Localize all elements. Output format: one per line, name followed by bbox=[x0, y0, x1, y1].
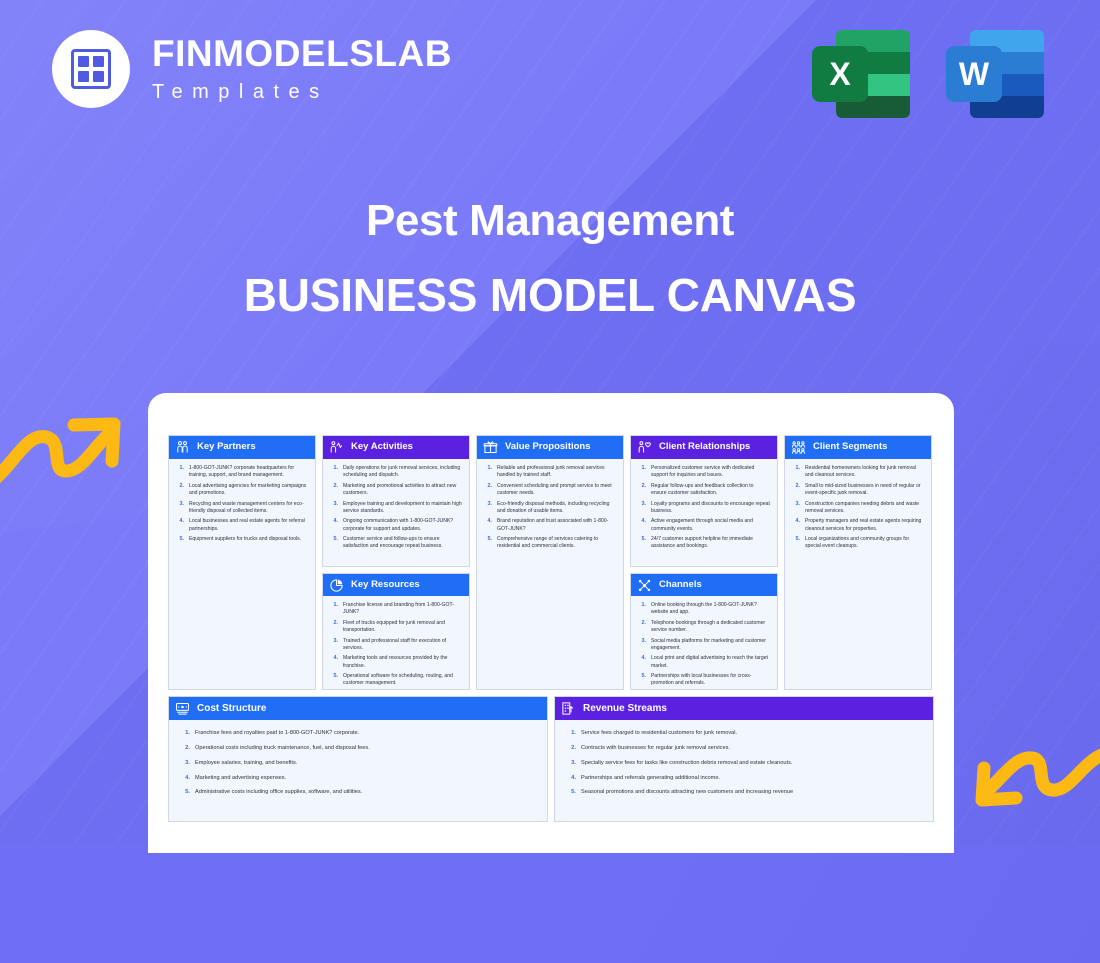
list-item: 3.Construction companies needing debris … bbox=[791, 501, 924, 516]
list-item: 3.Eco-friendly disposal methods, includi… bbox=[483, 501, 616, 516]
list-item: 1.Residential homeowners looking for jun… bbox=[791, 465, 924, 480]
panel-title: Cost Structure bbox=[197, 703, 266, 714]
excel-letter: X bbox=[812, 46, 868, 102]
brand-tagline: Templates bbox=[152, 81, 452, 104]
canvas-bottom-row: Cost Structure 1.Franchise fees and roya… bbox=[168, 696, 934, 822]
list-item: 4.Marketing tools and resources provided… bbox=[329, 655, 462, 670]
word-letter: W bbox=[946, 46, 1002, 102]
gift-icon bbox=[483, 440, 498, 455]
list-item: 4.Brand reputation and trust associated … bbox=[483, 518, 616, 533]
list-item: 5.Local organizations and community grou… bbox=[791, 536, 924, 551]
list-item: 1.Online booking through the 1-800-GOT-J… bbox=[637, 602, 770, 617]
pie-chart-icon bbox=[329, 578, 344, 593]
list-item: 1.Daily operations for junk removal serv… bbox=[329, 465, 462, 480]
list-item: 5.Operational software for scheduling, r… bbox=[329, 673, 462, 688]
list-item: 4.Property managers and real estate agen… bbox=[791, 518, 924, 533]
list-item: 3.Employee salaries, training, and benef… bbox=[179, 759, 537, 768]
panel-client-relationships[interactable]: Client Relationships 1.Personalized cust… bbox=[630, 435, 778, 567]
building-arrow-icon bbox=[561, 701, 576, 716]
list-item: 2.Fleet of trucks equipped for junk remo… bbox=[329, 620, 462, 635]
panel-key-partners[interactable]: Key Partners 1.1-800-GOT-JUNK? corporate… bbox=[168, 435, 316, 690]
list-item: 1.Service fees charged to residential cu… bbox=[565, 729, 923, 738]
word-file-icon: W bbox=[946, 28, 1044, 120]
list-item: 2.Operational costs including truck main… bbox=[179, 744, 537, 753]
list-item: 5.24/7 customer support helpline for imm… bbox=[637, 536, 770, 551]
key-partners-list: 1.1-800-GOT-JUNK? corporate headquarters… bbox=[169, 459, 315, 552]
list-item: 2.Convenient scheduling and prompt servi… bbox=[483, 483, 616, 498]
person-activity-icon bbox=[329, 440, 344, 455]
list-item: 3.Recycling and waste management centers… bbox=[175, 501, 308, 516]
list-item: 4.Marketing and advertising expenses. bbox=[179, 774, 537, 783]
list-item: 5.Partnerships with local businesses for… bbox=[637, 673, 770, 688]
list-item: 2.Local advertising agencies for marketi… bbox=[175, 483, 308, 498]
format-badges: X W bbox=[812, 28, 1044, 120]
list-item: 1.Franchise fees and royalties paid to 1… bbox=[179, 729, 537, 738]
squiggly-arrow-down-left-icon bbox=[966, 740, 1100, 835]
list-item: 1.Reliable and professional junk removal… bbox=[483, 465, 616, 480]
panel-title: Client Segments bbox=[813, 442, 887, 453]
panel-client-segments[interactable]: Client Segments 1.Residential homeowners… bbox=[784, 435, 932, 690]
panel-value-propositions[interactable]: Value Propositions 1.Reliable and profes… bbox=[476, 435, 624, 690]
list-item: 4.Ongoing communication with 1-800-GOT-J… bbox=[329, 518, 462, 533]
panel-channels[interactable]: Channels 1.Online booking through the 1-… bbox=[630, 573, 778, 690]
cost-structure-list: 1.Franchise fees and royalties paid to 1… bbox=[169, 720, 547, 809]
list-item: 4.Partnerships and referrals generating … bbox=[565, 774, 923, 783]
list-item: 3.Specialty service fees for tasks like … bbox=[565, 759, 923, 768]
list-item: 1.Personalized customer service with ded… bbox=[637, 465, 770, 480]
title-line-1: Pest Management bbox=[0, 196, 1100, 246]
panel-key-resources[interactable]: Key Resources 1.Franchise license and br… bbox=[322, 573, 470, 690]
person-heart-icon bbox=[637, 440, 652, 455]
channels-list: 1.Online booking through the 1-800-GOT-J… bbox=[631, 596, 777, 696]
value-propositions-list: 1.Reliable and professional junk removal… bbox=[477, 459, 623, 559]
panel-title: Client Relationships bbox=[659, 442, 750, 453]
panel-title: Key Activities bbox=[351, 442, 413, 453]
key-resources-list: 1.Franchise license and branding from 1-… bbox=[323, 596, 469, 696]
two-people-icon bbox=[175, 440, 190, 455]
list-item: 2.Contracts with businesses for regular … bbox=[565, 744, 923, 753]
network-nodes-icon bbox=[637, 578, 652, 593]
business-model-canvas: Key Partners 1.1-800-GOT-JUNK? corporate… bbox=[148, 393, 954, 853]
revenue-streams-list: 1.Service fees charged to residential cu… bbox=[555, 720, 933, 809]
people-group-icon bbox=[791, 440, 806, 455]
list-item: 5.Equipment suppliers for trucks and dis… bbox=[175, 536, 308, 544]
client-segments-list: 1.Residential homeowners looking for jun… bbox=[785, 459, 931, 559]
list-item: 5.Comprehensive range of services cateri… bbox=[483, 536, 616, 551]
list-item: 2.Telephone bookings through a dedicated… bbox=[637, 620, 770, 635]
page-title: Pest Management BUSINESS MODEL CANVAS bbox=[0, 196, 1100, 322]
list-item: 5.Customer service and follow-ups to ens… bbox=[329, 536, 462, 551]
list-item: 3.Trained and professional staff for exe… bbox=[329, 638, 462, 653]
client-relationships-list: 1.Personalized customer service with ded… bbox=[631, 459, 777, 559]
brand-name: FINMODELSLAB bbox=[152, 35, 452, 72]
panel-revenue-streams[interactable]: Revenue Streams 1.Service fees charged t… bbox=[554, 696, 934, 822]
list-item: 1.Franchise license and branding from 1-… bbox=[329, 602, 462, 617]
list-item: 3.Employee training and development to m… bbox=[329, 501, 462, 516]
panel-title: Channels bbox=[659, 580, 702, 591]
brand-logo: FINMODELSLAB Templates bbox=[52, 30, 452, 108]
list-item: 2.Small to mid-sized businesses in need … bbox=[791, 483, 924, 498]
money-screen-icon bbox=[175, 701, 190, 716]
excel-file-icon: X bbox=[812, 28, 910, 120]
panel-key-activities[interactable]: Key Activities 1.Daily operations for ju… bbox=[322, 435, 470, 567]
grid-logo-icon bbox=[52, 30, 130, 108]
list-item: 5.Administrative costs including office … bbox=[179, 788, 537, 797]
list-item: 4.Active engagement through social media… bbox=[637, 518, 770, 533]
panel-title: Key Partners bbox=[197, 442, 256, 453]
list-item: 2.Marketing and promotional activities t… bbox=[329, 483, 462, 498]
list-item: 2.Regular follow-ups and feedback collec… bbox=[637, 483, 770, 498]
list-item: 4.Local businesses and real estate agent… bbox=[175, 518, 308, 533]
canvas-top-row: Key Partners 1.1-800-GOT-JUNK? corporate… bbox=[168, 435, 934, 690]
panel-title: Value Propositions bbox=[505, 442, 591, 453]
title-line-2: BUSINESS MODEL CANVAS bbox=[0, 268, 1100, 322]
list-item: 3.Loyalty programs and discounts to enco… bbox=[637, 501, 770, 516]
panel-title: Key Resources bbox=[351, 580, 420, 591]
key-activities-list: 1.Daily operations for junk removal serv… bbox=[323, 459, 469, 559]
list-item: 1.1-800-GOT-JUNK? corporate headquarters… bbox=[175, 465, 308, 480]
squiggly-arrow-up-right-icon bbox=[0, 405, 128, 500]
list-item: 3.Social media platforms for marketing a… bbox=[637, 638, 770, 653]
list-item: 4.Local print and digital advertising to… bbox=[637, 655, 770, 670]
list-item: 5.Seasonal promotions and discounts attr… bbox=[565, 788, 923, 797]
panel-cost-structure[interactable]: Cost Structure 1.Franchise fees and roya… bbox=[168, 696, 548, 822]
panel-title: Revenue Streams bbox=[583, 703, 667, 714]
